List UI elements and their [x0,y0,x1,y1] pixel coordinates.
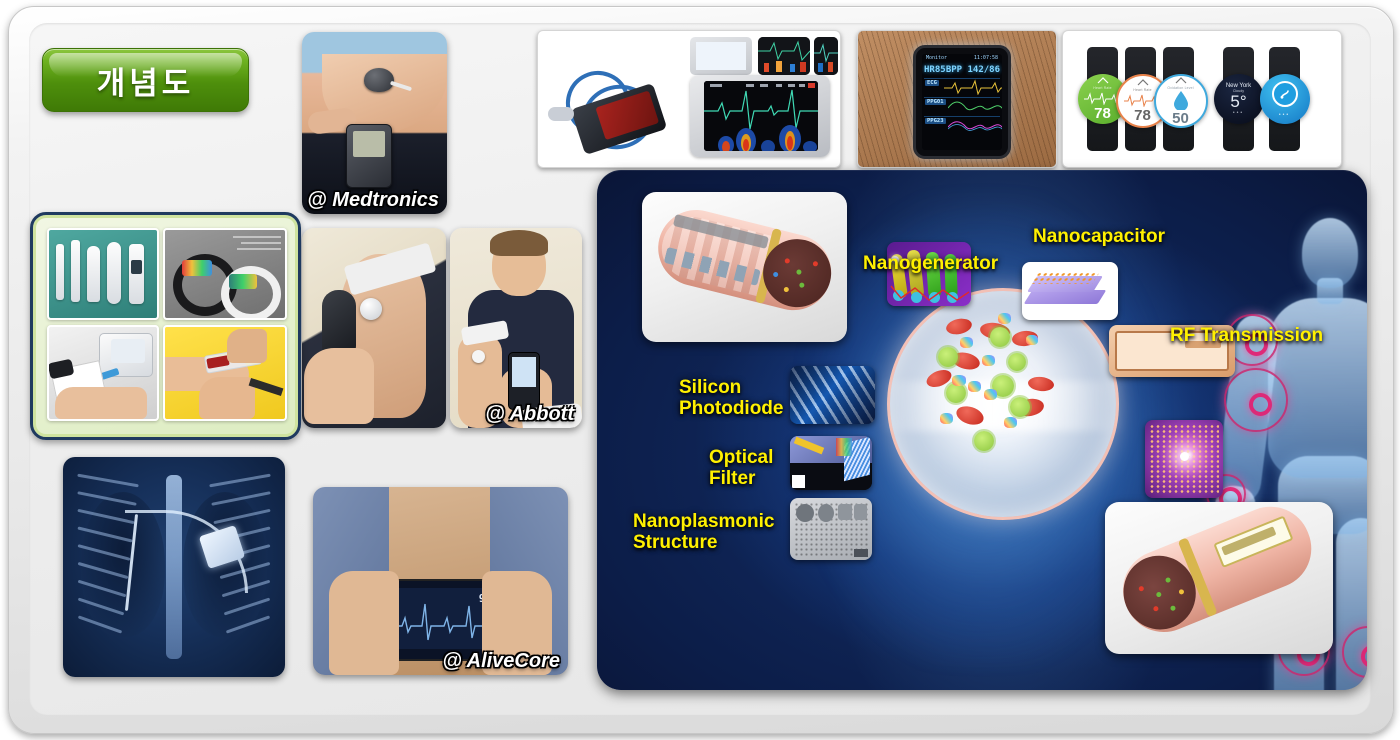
chevron-up-icon [1097,77,1109,84]
trace-label-ppg23: PPG23 [925,118,946,124]
status-left: Monitor [926,55,947,63]
spectrogram-plot [704,81,818,151]
chevron-up-icon [1137,79,1149,86]
photo-card-alivecore[interactable]: 90 @ AliveCore [313,487,568,675]
heart-rate-value: HR85 [924,65,946,75]
glucose-sensor-patch-icon [360,298,382,320]
rf-node-chest-left [1224,368,1288,432]
head [1302,218,1358,288]
phone-screen [595,90,659,140]
label-nanocapacitor: Nanocapacitor [1033,226,1165,247]
caption-medtronics: @ Medtronics [307,189,439,212]
music-app-icon [1272,81,1298,107]
title-badge[interactable]: 개념도 [42,48,249,112]
panel-phone-stethoscope[interactable] [537,30,841,168]
status-time: 11:07:58 [974,55,998,63]
smartwatch-4: New York Cloudy 5° ••• [1223,47,1254,151]
cell-glucose-meter [47,325,159,421]
thumb-phone-ecg [690,37,752,75]
cell-blood-draw [163,325,287,421]
water-drop-icon [1173,91,1189,110]
thumb-silicon-photodiode [790,366,875,424]
thumb-nanophotonic-array [1145,420,1223,498]
nanogen-wire-icon [887,280,971,306]
thumb-phone-spectro-1 [758,37,810,75]
smartwatch-1: Heart Rate 78 [1087,47,1118,151]
watch-5-dots: ••• [1279,112,1290,118]
trace-lane-ecg: ECG [924,78,1000,96]
spectrogram-screen [704,81,818,151]
label-rf-transmission: RF Transmission [1170,325,1323,346]
watch-2-label: Heart Rate [1133,88,1151,92]
photo-card-arm-sensor[interactable] [302,228,446,428]
caption-alivecore: @ AliveCore [442,650,560,673]
photo-card-abbott[interactable]: @ Abbott [450,228,582,428]
panel-nanosensor-concept[interactable]: Nanogenerator Nanocapacitor RF Transmiss… [597,170,1367,690]
vessel-tube-bottom [1111,502,1327,653]
trace-label-ecg: ECG [925,80,939,86]
panel-smartwatch-row[interactable]: Heart Rate 78 Heart Rate 78 Oxidation Le… [1062,30,1342,168]
label-silicon-photodiode: Silicon Photodiode [679,377,783,420]
watch-face-oxidation: Oxidation Level 50 [1154,74,1208,128]
insulin-pump-device [346,124,392,188]
pump-screen [353,131,385,157]
reader-screen [512,357,536,387]
label-nanogenerator: Nanogenerator [863,253,998,274]
smartwatch-2: Heart Rate 78 [1125,47,1156,151]
label-optical-filter: Optical Filter [709,447,773,490]
photo-card-medtronics[interactable]: @ Medtronics [302,32,447,214]
monitor-status-bar: Monitor 11:07:58 [924,55,1000,63]
watch-2-value: 78 [1134,108,1151,123]
glucose-reader-device [508,352,540,410]
watch-1-value: 78 [1094,106,1111,121]
blood-pressure-value: BPP 142/86 [946,65,1000,75]
trace-lane-ppg01: PPG01 [924,97,1000,115]
photo-card-xray[interactable] [63,457,285,677]
chestpiece-icon [548,107,574,121]
caption-abbott: @ Abbott [485,403,574,426]
smartwatch-3: Oxidation Level 50 [1163,47,1194,151]
hand [304,348,374,424]
chevron-up-icon [1175,77,1187,84]
thumb-nanoplasmonic-structure [790,498,872,560]
wrist-monitor-screen: Monitor 11:07:58 HR85 BPP 142/86 ECG PPG… [922,54,1002,150]
figure-vessel-implant-bottom [1105,502,1333,654]
hair [490,230,548,256]
panel-wrist-monitor[interactable]: Monitor 11:07:58 HR85 BPP 142/86 ECG PPG… [857,30,1057,168]
watch-4-dots: ••• [1233,110,1244,116]
sensor-patch-icon [472,350,485,363]
cell-thermometers [47,228,159,320]
watch-1-label: Heart Rate [1093,86,1111,90]
watch-face-weather: New York Cloudy 5° ••• [1214,74,1264,124]
watch-3-value: 50 [1172,111,1189,126]
rib [209,474,271,488]
panel-conventional-devices[interactable] [30,212,301,440]
monitor-vitals: HR85 BPP 142/86 [924,65,1000,75]
trace-label-ppg01: PPG01 [925,99,946,105]
rib [77,474,139,488]
figure-vessel-implant-top [642,192,847,342]
watch-3-label: Oxidation Level [1167,86,1193,90]
watch-face-music: ••• [1260,74,1310,124]
concept-diagram-root: 개념도 @ Medtronics @ Abbott [0,0,1400,740]
label-nanoplasmonic-structure: Nanoplasmonic Structure [633,511,774,554]
trace-lane-ppg23: PPG23 [924,116,1000,134]
watch-4-condition: Cloudy [1233,89,1244,93]
vessel-tube-top [649,202,840,324]
smartwatch-5: ••• [1269,47,1300,151]
thumb-nanocapacitor [1022,262,1118,320]
thumb-phone-spectro-2 [814,37,838,75]
pump-patch-icon [364,68,394,92]
stethoscope-assembly [548,65,676,157]
watch-4-temperature: 5° [1230,93,1246,110]
wrist-monitor-device: Monitor 11:07:58 HR85 BPP 142/86 ECG PPG… [913,45,1011,159]
hand-left [329,571,399,675]
cell-smart-wristband [163,228,287,320]
magnified-blood-sample [887,288,1119,520]
thumb-optical-filter [790,436,872,490]
title-badge-label: 개념도 [97,58,195,103]
phone-spectrogram-main [690,75,830,157]
